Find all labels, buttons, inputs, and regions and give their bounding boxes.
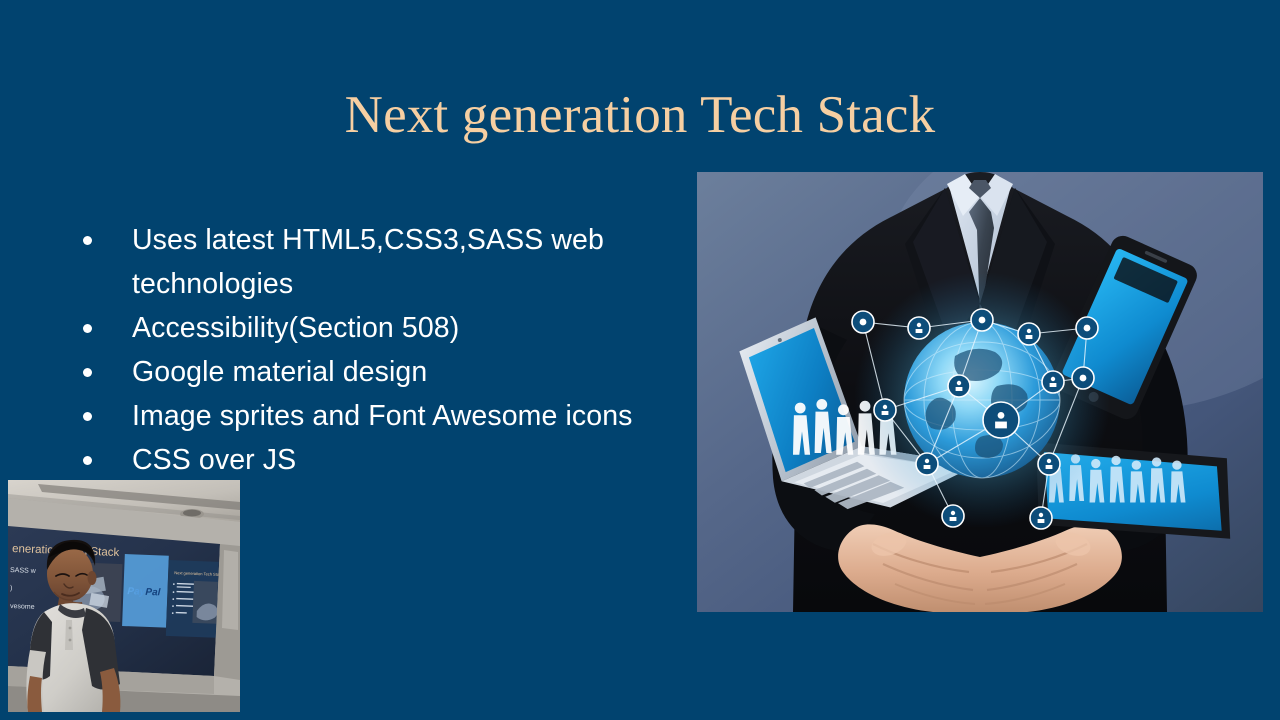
bullet-item: Accessibility(Section 508)	[74, 306, 694, 350]
tech-devices-photo	[697, 172, 1263, 612]
bullet-dot-icon	[83, 412, 92, 421]
bullet-dot-icon	[83, 456, 92, 465]
svg-text:SASS w: SASS w	[10, 567, 37, 575]
bullet-item-label: Image sprites and Font Awesome icons	[132, 400, 633, 432]
bullet-item: CSS over JS	[74, 438, 694, 482]
svg-text:): )	[10, 585, 13, 592]
bullet-item-label: Google material design	[132, 356, 427, 388]
bullet-dot-icon	[83, 236, 92, 245]
bullet-list: Uses latest HTML5,CSS3,SASS web technolo…	[74, 218, 694, 482]
bullet-item: Image sprites and Font Awesome icons	[74, 394, 694, 438]
svg-text:Pay: Pay	[127, 586, 146, 598]
bullet-dot-icon	[83, 324, 92, 333]
bullet-dot-icon	[83, 368, 92, 377]
bullet-item: Uses latest HTML5,CSS3,SASS web technolo…	[74, 218, 694, 306]
svg-text:vesome: vesome	[10, 603, 35, 611]
svg-text:Pal: Pal	[145, 587, 161, 599]
webcam-overlay: eneration Tech Stack SASS w ) vesome Pay…	[8, 480, 240, 712]
slide-title: Next generation Tech Stack	[0, 84, 1280, 146]
bullet-item-label: CSS over JS	[132, 444, 296, 476]
bullet-item-label: Accessibility(Section 508)	[132, 312, 459, 344]
bullet-item: Google material design	[74, 350, 694, 394]
bullet-item-label: Uses latest HTML5,CSS3,SASS web technolo…	[132, 224, 604, 300]
presentation-slide: Next generation Tech Stack Uses latest H…	[0, 0, 1280, 720]
